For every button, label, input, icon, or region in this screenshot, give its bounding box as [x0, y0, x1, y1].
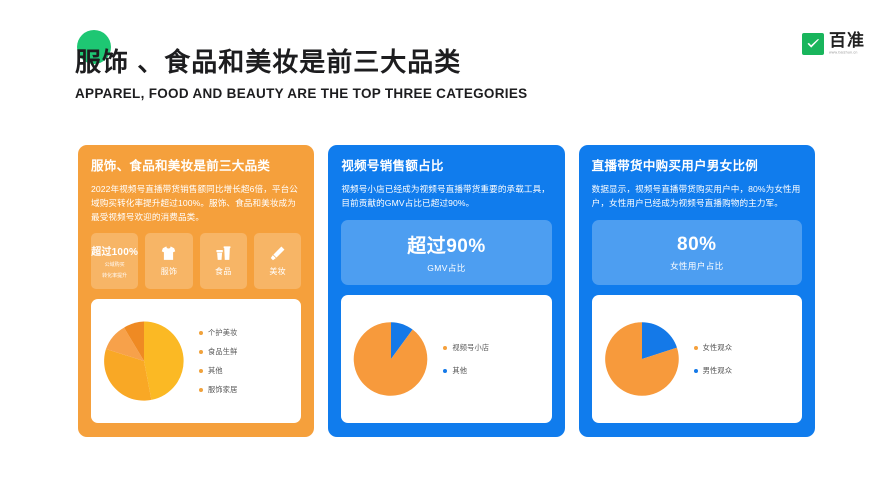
legend-dot	[443, 346, 447, 350]
stat-value: 超过90%	[407, 231, 486, 258]
legend-label: 食品生鲜	[208, 347, 238, 357]
stat-panel: 80% 女性用户占比	[592, 220, 802, 285]
legend-item: 男性观众	[694, 366, 792, 376]
brand-name: 百准	[829, 32, 865, 49]
legend-dot	[199, 388, 203, 392]
page-header: 服饰 、食品和美妆是前三大品类 APPAREL, FOOD AND BEAUTY…	[75, 28, 695, 101]
legend-label: 男性观众	[703, 366, 733, 376]
pie-chart-svg	[101, 318, 187, 404]
legend-label: 个护美妆	[208, 328, 238, 338]
tile-label: 食品	[215, 266, 232, 277]
legend-dot	[694, 369, 698, 373]
legend-item: 服饰家居	[199, 385, 291, 395]
brand-logo: 百准 www.baizhun.cn	[802, 32, 865, 55]
stat-value: 80%	[677, 234, 717, 256]
chart-panel: 视频号小店 其他	[341, 295, 551, 423]
card-description: 2022年视频号直播带货销售额同比增长超6倍，平台公域购买转化率提升超过100%…	[91, 182, 301, 224]
pie-chart-svg	[351, 319, 431, 399]
tile-stat-value: 超过100%	[91, 243, 138, 258]
card-description: 数据显示，视频号直播带货购买用户中，80%为女性用户，女性用户已经成为视频号直播…	[592, 182, 802, 210]
legend-label: 视频号小店	[452, 343, 489, 353]
legend-item: 其他	[199, 366, 291, 376]
brand-name-wrap: 百准 www.baizhun.cn	[829, 32, 865, 55]
stat-panel: 超过90% GMV占比	[341, 220, 551, 285]
check-mark-icon	[802, 33, 824, 55]
tile-stat-sub-line1: 公域购买	[105, 262, 125, 269]
card-title: 服饰、食品和美妆是前三大品类	[91, 158, 301, 175]
tile-food[interactable]: 食品	[200, 233, 247, 289]
legend-dot	[199, 350, 203, 354]
pie-chart-sales-share	[351, 319, 431, 399]
tile-label: 美妆	[269, 266, 286, 277]
pie-chart-gender	[602, 319, 682, 399]
tile-label: 服饰	[161, 266, 178, 277]
drink-cup-icon	[215, 245, 232, 262]
legend-dot	[199, 369, 203, 373]
card-title: 视频号销售额占比	[341, 158, 551, 175]
pie-legend: 女性观众 男性观众	[688, 343, 792, 376]
legend-label: 其他	[208, 366, 223, 376]
pie-legend: 个护美妆 食品生鲜 其他 服饰家居	[193, 328, 291, 395]
legend-item: 食品生鲜	[199, 347, 291, 357]
stat-label: GMV占比	[427, 262, 465, 274]
tile-conversion-stat[interactable]: 超过100% 公域购买 转化率提升	[91, 233, 138, 289]
tile-stat-sub-line2: 转化率提升	[102, 273, 127, 280]
pie-chart-categories	[101, 318, 187, 404]
legend-item: 视频号小店	[443, 343, 541, 353]
page-title: 服饰 、食品和美妆是前三大品类	[75, 28, 695, 79]
legend-item: 女性观众	[694, 343, 792, 353]
card-title: 直播带货中购买用户男女比例	[592, 158, 802, 175]
chart-panel: 个护美妆 食品生鲜 其他 服饰家居	[91, 299, 301, 423]
t-shirt-icon	[160, 245, 177, 262]
brand-url: www.baizhun.cn	[829, 51, 861, 55]
cards-row: 服饰、食品和美妆是前三大品类 2022年视频号直播带货销售额同比增长超6倍，平台…	[78, 145, 815, 437]
legend-label: 服饰家居	[208, 385, 238, 395]
legend-dot	[694, 346, 698, 350]
sales-share-card[interactable]: 视频号销售额占比 视频号小店已经成为视频号直播带货重要的承载工具，目前贡献的GM…	[328, 145, 564, 437]
gender-ratio-card[interactable]: 直播带货中购买用户男女比例 数据显示，视频号直播带货购买用户中，80%为女性用户…	[579, 145, 815, 437]
category-tiles: 超过100% 公域购买 转化率提升 服饰	[91, 233, 301, 289]
tile-beauty[interactable]: 美妆	[254, 233, 301, 289]
chart-panel: 女性观众 男性观众	[592, 295, 802, 423]
card-description: 视频号小店已经成为视频号直播带货重要的承载工具，目前贡献的GMV占比已超过90%…	[341, 182, 551, 210]
legend-item: 个护美妆	[199, 328, 291, 338]
legend-label: 女性观众	[703, 343, 733, 353]
pie-legend: 视频号小店 其他	[437, 343, 541, 376]
legend-dot	[199, 331, 203, 335]
pie-chart-svg	[602, 319, 682, 399]
legend-dot	[443, 369, 447, 373]
tile-apparel[interactable]: 服饰	[145, 233, 192, 289]
page-subtitle: APPAREL, FOOD AND BEAUTY ARE THE TOP THR…	[75, 86, 695, 101]
legend-item: 其他	[443, 366, 541, 376]
legend-label: 其他	[452, 366, 467, 376]
category-card[interactable]: 服饰、食品和美妆是前三大品类 2022年视频号直播带货销售额同比增长超6倍，平台…	[78, 145, 314, 437]
lipstick-brush-icon	[269, 245, 286, 262]
stat-label: 女性用户占比	[670, 260, 723, 272]
